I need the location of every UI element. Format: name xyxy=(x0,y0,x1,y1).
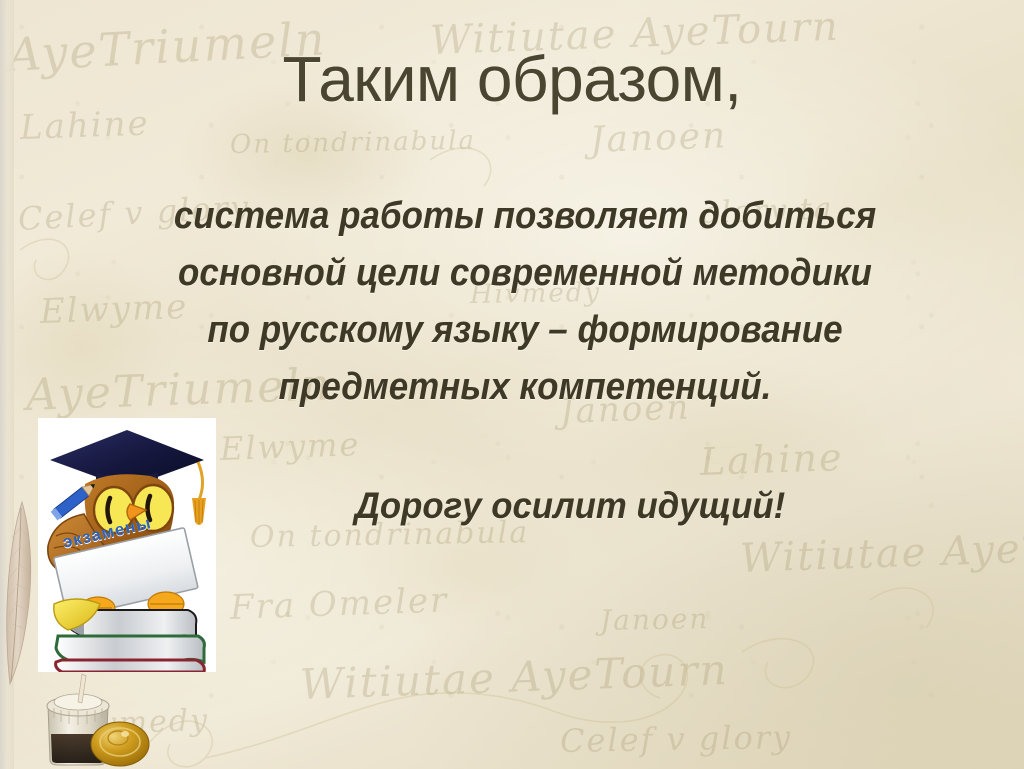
script-line: Lahine xyxy=(699,435,844,484)
quill-feather-icon xyxy=(2,498,36,688)
script-line: On tondrinabula xyxy=(230,126,477,160)
owl-graduate-clipart: экзамены xyxy=(38,418,216,672)
body-line: основной цели современной методики xyxy=(152,245,897,302)
script-line: Janoen xyxy=(600,602,710,637)
body-line: система работы позволяет добиться xyxy=(152,188,897,245)
presentation-slide: AyeTriumeln Witiutae AyeTourn Lahine On … xyxy=(0,0,1024,769)
script-line: Celef v glory xyxy=(560,718,793,760)
inkwell-with-gold-seal-icon xyxy=(28,672,160,769)
body-line: предметных компетенций. xyxy=(152,359,897,416)
body-line: по русскому языку – формирование xyxy=(152,302,897,359)
slide-body: система работы позволяет добиться основн… xyxy=(120,188,930,416)
closing-phrase: Дорогу осилит идущий! xyxy=(213,485,927,527)
script-line: Fra Omeler xyxy=(229,580,449,628)
script-line: Witiutae AyeTourn xyxy=(739,522,1024,582)
script-line: Elwyme xyxy=(219,425,361,468)
slide-title: Таким образом, xyxy=(0,46,1024,113)
script-line: Janoen xyxy=(589,115,728,161)
script-line: Witiutae AyeTourn xyxy=(299,645,729,709)
